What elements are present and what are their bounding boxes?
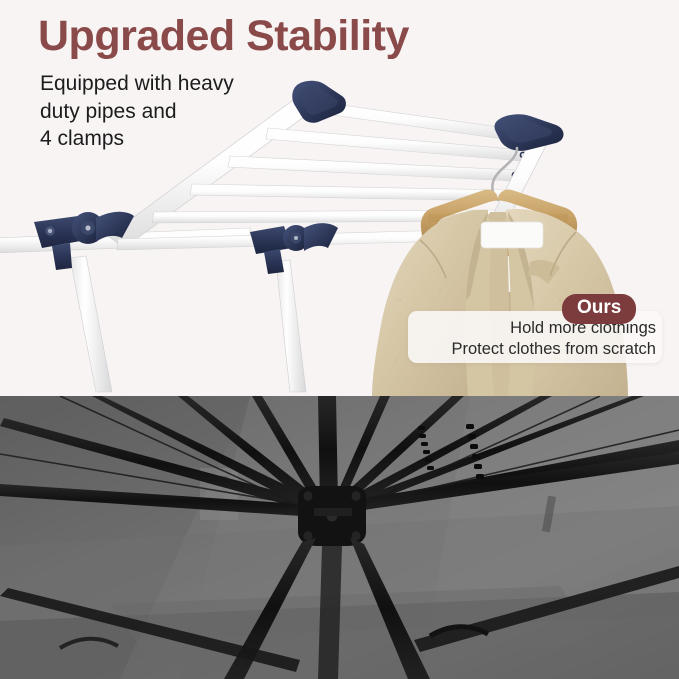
rack-endcap-right — [495, 114, 564, 151]
top-section-ours: Upgraded Stability Equipped with heavy d… — [0, 0, 679, 396]
ours-callout-text: Hold more clothings Protect clothes from… — [414, 318, 656, 361]
page-title: Upgraded Stability — [38, 14, 409, 59]
ours-badge: Ours — [562, 294, 636, 324]
rack-clamp-right — [250, 223, 338, 274]
page-subtitle: Equipped with heavy duty pipes and 4 cla… — [40, 70, 234, 153]
bottom-section-others: Deform and tip over easily Unable to han… — [0, 396, 679, 679]
black-metal-rack-photo — [0, 396, 679, 679]
product-comparison-infographic: Upgraded Stability Equipped with heavy d… — [0, 0, 679, 679]
